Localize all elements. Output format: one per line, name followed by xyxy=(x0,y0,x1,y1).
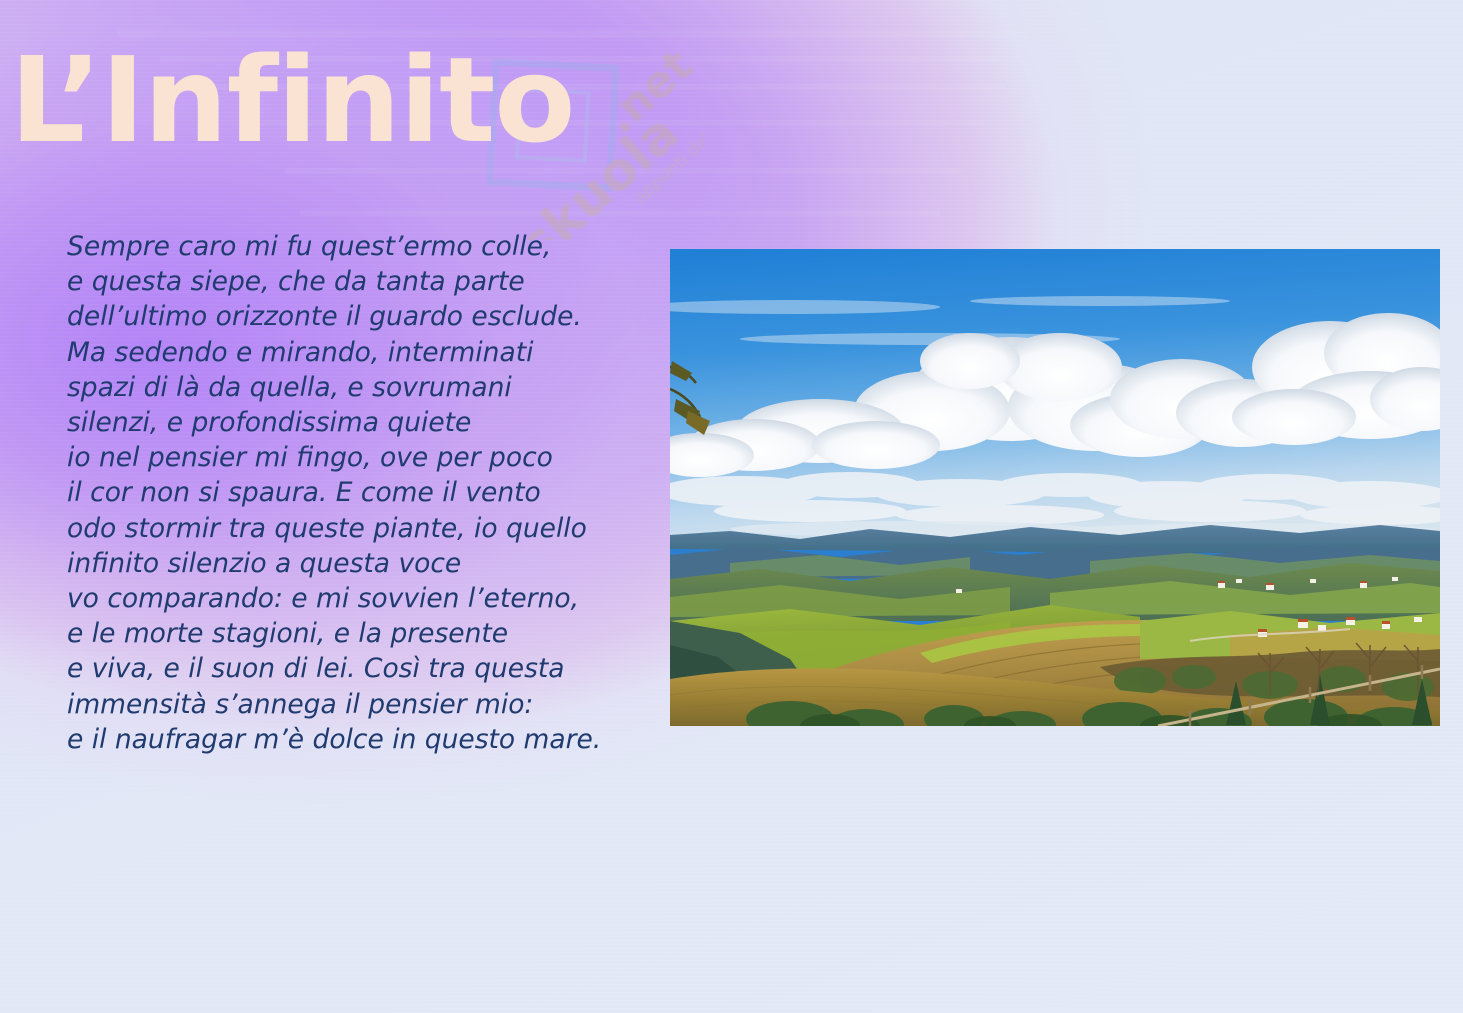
poem-line: il cor non si spaura. E come il vento xyxy=(67,475,667,510)
slide-title: L’Infinito xyxy=(10,41,575,159)
poem-line: immensità s’annega il pensier mio: xyxy=(67,687,667,722)
poem-line: infinito silenzio a questa voce xyxy=(67,546,667,581)
poem-line: Ma sedendo e mirando, interminati xyxy=(67,335,667,370)
slide-canvas: skuola .net appunti della studente L’Inf… xyxy=(0,0,1463,1013)
poem-line: odo stormir tra queste piante, io quello xyxy=(67,511,667,546)
poem-line: e le morte stagioni, e la presente xyxy=(67,616,667,651)
poem-line: e questa siepe, che da tanta parte xyxy=(67,264,667,299)
poem-line: io nel pensier mi fingo, ove per poco xyxy=(67,440,667,475)
poem-line: silenzi, e profondissima quiete xyxy=(67,405,667,440)
poem-body: Sempre caro mi fu quest’ermo colle, e qu… xyxy=(67,229,667,757)
poem-line: spazi di là da quella, e sovrumani xyxy=(67,370,667,405)
poem-line: e il naufragar m’è dolce in questo mare. xyxy=(67,722,667,757)
poem-line: Sempre caro mi fu quest’ermo colle, xyxy=(67,229,667,264)
poem-line: dell’ultimo orizzonte il guardo esclude. xyxy=(67,299,667,334)
poem-line: vo comparando: e mi sovvien l’eterno, xyxy=(67,581,667,616)
poem-line: e viva, e il suon di lei. Così tra quest… xyxy=(67,651,667,686)
landscape-photo xyxy=(670,249,1440,726)
